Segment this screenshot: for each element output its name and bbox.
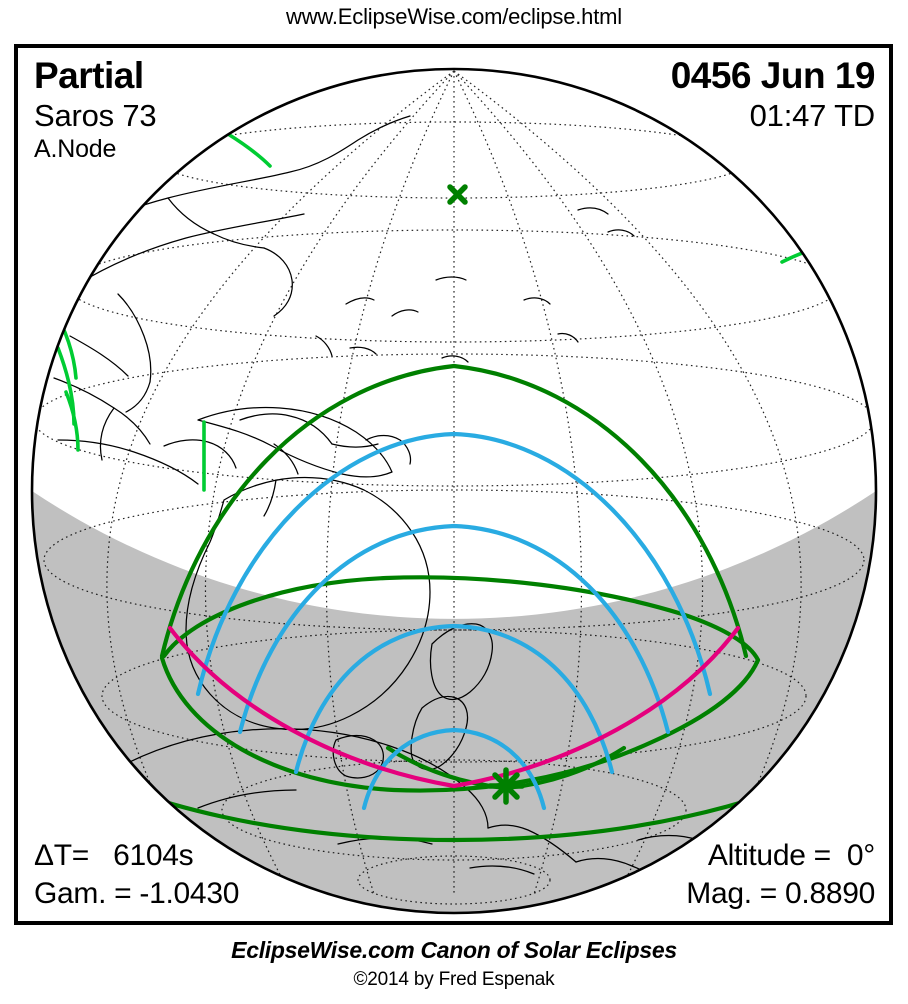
copyright-notice: ©2014 by Fred Espenak — [0, 968, 908, 992]
eclipse-stats-left: ΔT= 6104s Gam. = -1.0430 — [34, 837, 239, 913]
eclipse-summary-left: Partial Saros 73 A.Node — [34, 54, 156, 165]
greatest-eclipse-asterisk-icon — [490, 770, 522, 802]
page-url-caption: www.EclipseWise.com/eclipse.html — [0, 4, 908, 30]
canon-title: EclipseWise.com Canon of Solar Eclipses — [0, 936, 908, 964]
saros-series-label: Saros 73 — [34, 97, 156, 134]
eclipse-date-label: 0456 Jun 19 — [671, 54, 875, 97]
altitude-value: Altitude = 0° — [686, 837, 875, 875]
globe-map — [18, 48, 889, 921]
eclipse-summary-right: 0456 Jun 19 01:47 TD — [671, 54, 875, 135]
eclipse-time-label: 01:47 TD — [671, 97, 875, 135]
eclipse-stats-right: Altitude = 0° Mag. = 0.8890 — [686, 837, 875, 913]
delta-t-value: ΔT= 6104s — [34, 837, 239, 875]
node-label: A.Node — [34, 134, 156, 165]
eclipse-diagram-frame: Partial Saros 73 A.Node 0456 Jun 19 01:4… — [14, 44, 893, 925]
eclipse-type-label: Partial — [34, 54, 156, 97]
magnitude-value: Mag. = 0.8890 — [686, 875, 875, 913]
gamma-value: Gam. = -1.0430 — [34, 875, 239, 913]
